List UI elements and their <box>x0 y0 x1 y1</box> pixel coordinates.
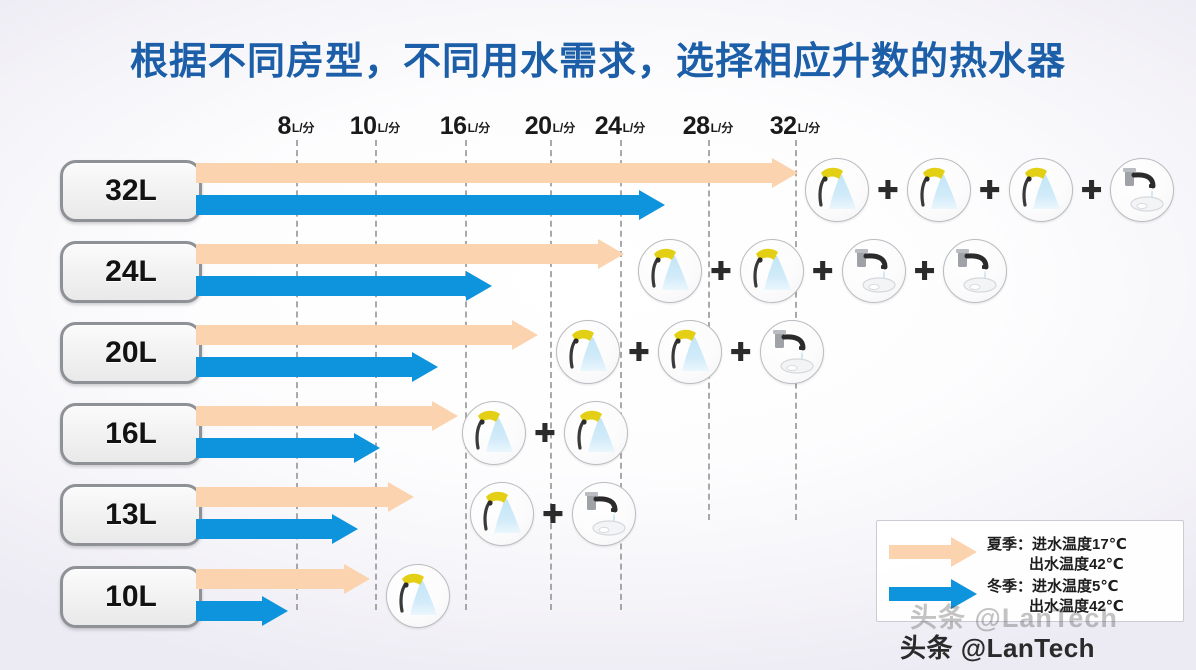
row-arrows <box>196 401 462 465</box>
fixture-icon-group: ✚✚✚ <box>805 158 1174 222</box>
legend-summer-line1: 进水温度17℃ <box>1032 536 1127 553</box>
fixture-icon-group <box>386 564 450 628</box>
slide-canvas: 根据不同房型，不同用水需求，选择相应升数的热水器 8L/分10L/分16L/分2… <box>0 0 1196 670</box>
axis-scale: 8L/分10L/分16L/分20L/分24L/分28L/分32L/分 <box>0 112 1196 146</box>
axis-tick-value: 20 <box>525 112 552 140</box>
fixture-icon-group: ✚ <box>470 482 636 546</box>
shower-icon <box>638 239 702 303</box>
plus-icon: ✚ <box>810 258 836 284</box>
winter-arrow-16l <box>196 433 380 463</box>
winter-arrow-32l <box>196 190 665 220</box>
shower-icon <box>386 564 450 628</box>
legend-row-summer: 夏季：进水温度17℃ 出水温度42℃ <box>889 537 1127 576</box>
legend-winter-season: 冬季： <box>987 578 1032 595</box>
summer-arrow-13l <box>196 482 414 512</box>
axis-tick-unit: L/分 <box>553 121 576 135</box>
plus-icon: ✚ <box>912 258 938 284</box>
watermark: 头条 @LanTech <box>900 628 1095 665</box>
axis-tick-unit: L/分 <box>378 121 401 135</box>
legend-summer-season: 夏季： <box>987 536 1032 553</box>
row-arrows <box>196 239 628 303</box>
shower-icon <box>907 158 971 222</box>
axis-tick-label: 24L/分 <box>595 112 645 141</box>
shower-icon <box>462 401 526 465</box>
axis-tick-label: 16L/分 <box>440 112 490 141</box>
axis-tick-label: 32L/分 <box>770 112 820 141</box>
plus-icon: ✚ <box>626 339 652 365</box>
fixture-icon-group: ✚✚✚ <box>638 239 1007 303</box>
axis-tick-value: 10 <box>350 112 377 140</box>
plus-icon: ✚ <box>1079 177 1105 203</box>
axis-tick-value: 24 <box>595 112 622 140</box>
axis-tick-label: 20L/分 <box>525 112 575 141</box>
winter-arrow-20l <box>196 352 438 382</box>
shower-icon <box>564 401 628 465</box>
axis-tick-label: 10L/分 <box>350 112 400 141</box>
faucet-icon <box>1110 158 1174 222</box>
capacity-label-13l[interactable]: 13L <box>60 484 202 546</box>
row-arrows <box>196 564 374 628</box>
axis-tick-label: 8L/分 <box>277 112 314 141</box>
plus-icon: ✚ <box>532 420 558 446</box>
plus-icon: ✚ <box>540 501 566 527</box>
summer-arrow-20l <box>196 320 538 350</box>
axis-tick-unit: L/分 <box>798 121 821 135</box>
plus-icon: ✚ <box>728 339 754 365</box>
axis-tick-unit: L/分 <box>468 121 491 135</box>
shower-icon <box>1009 158 1073 222</box>
plus-icon: ✚ <box>708 258 734 284</box>
row-arrows <box>196 320 542 384</box>
shower-icon <box>470 482 534 546</box>
summer-arrow-32l <box>196 158 798 188</box>
faucet-icon <box>760 320 824 384</box>
capacity-row: 24L✚✚✚ <box>0 231 1196 309</box>
row-arrows <box>196 158 802 222</box>
axis-tick-value: 28 <box>683 112 710 140</box>
shower-icon <box>805 158 869 222</box>
fixture-icon-group: ✚ <box>462 401 628 465</box>
legend-summer-line2: 出水温度42℃ <box>1029 555 1127 575</box>
summer-arrow-icon <box>889 537 977 567</box>
shower-icon <box>556 320 620 384</box>
axis-tick-value: 16 <box>440 112 467 140</box>
fixture-icon-group: ✚✚ <box>556 320 824 384</box>
summer-arrow-16l <box>196 401 458 431</box>
page-title: 根据不同房型，不同用水需求，选择相应升数的热水器 <box>0 30 1196 85</box>
axis-tick-unit: L/分 <box>711 121 734 135</box>
capacity-label-16l[interactable]: 16L <box>60 403 202 465</box>
faucet-icon <box>943 239 1007 303</box>
axis-tick-label: 28L/分 <box>683 112 733 141</box>
shower-icon <box>740 239 804 303</box>
row-arrows <box>196 482 418 546</box>
capacity-row: 32L✚✚✚ <box>0 150 1196 228</box>
winter-arrow-13l <box>196 514 358 544</box>
capacity-row: 20L✚✚ <box>0 312 1196 390</box>
summer-arrow-24l <box>196 239 624 269</box>
axis-tick-unit: L/分 <box>623 121 646 135</box>
capacity-label-20l[interactable]: 20L <box>60 322 202 384</box>
plus-icon: ✚ <box>875 177 901 203</box>
winter-arrow-10l <box>196 596 288 626</box>
axis-tick-unit: L/分 <box>292 121 315 135</box>
shower-icon <box>658 320 722 384</box>
faucet-icon <box>842 239 906 303</box>
capacity-label-10l[interactable]: 10L <box>60 566 202 628</box>
axis-tick-value: 8 <box>277 112 290 140</box>
capacity-row: 16L✚ <box>0 393 1196 471</box>
winter-arrow-24l <box>196 271 492 301</box>
plus-icon: ✚ <box>977 177 1003 203</box>
capacity-label-32l[interactable]: 32L <box>60 160 202 222</box>
faucet-icon <box>572 482 636 546</box>
capacity-label-24l[interactable]: 24L <box>60 241 202 303</box>
summer-arrow-10l <box>196 564 370 594</box>
legend-winter-line1: 进水温度5℃ <box>1032 578 1119 595</box>
axis-tick-value: 32 <box>770 112 797 140</box>
